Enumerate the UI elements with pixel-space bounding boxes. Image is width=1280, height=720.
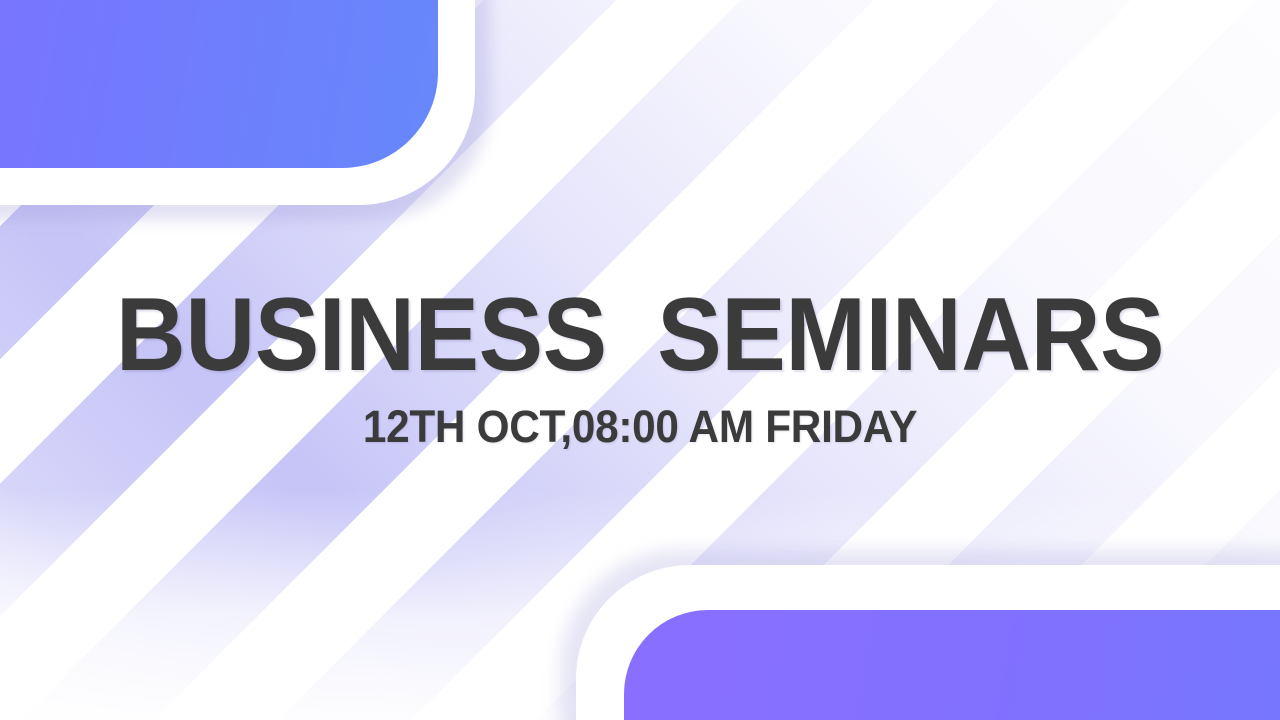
bottom-right-gradient-shape xyxy=(624,610,1280,720)
top-left-gradient-shape xyxy=(0,0,438,168)
poster-text-block: BUSINESS SEMINARS 12TH OCT,08:00 AM FRID… xyxy=(0,286,1280,449)
event-poster: BUSINESS SEMINARS 12TH OCT,08:00 AM FRID… xyxy=(0,0,1280,720)
poster-subtitle: 12TH OCT,08:00 AM FRIDAY xyxy=(38,404,1241,449)
poster-title: BUSINESS SEMINARS xyxy=(45,286,1235,386)
